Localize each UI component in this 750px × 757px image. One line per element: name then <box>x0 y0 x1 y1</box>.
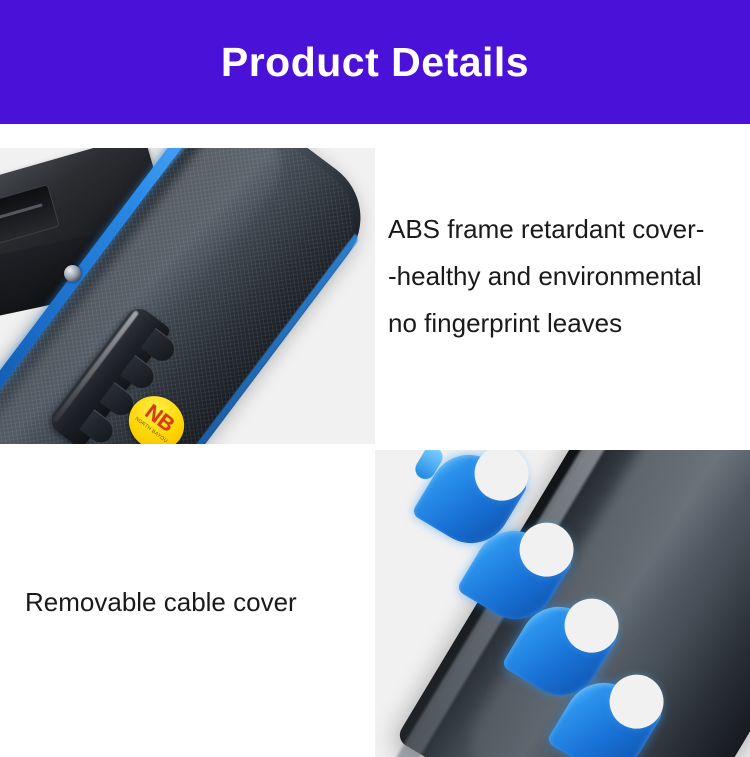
cable-cover-caption: Removable cable cover <box>25 585 297 619</box>
page-header-banner: Product Details <box>0 0 750 124</box>
pivot-screw <box>64 265 81 282</box>
feature-line-1: ABS frame retardant cover- <box>388 206 740 253</box>
product-details-page: Product Details <box>0 0 750 757</box>
product-photo-cable-teeth-closeup <box>375 450 750 757</box>
product-photo-arm-closeup: NB NORTH BAYOU <box>0 148 375 444</box>
feature-description-block: ABS frame retardant cover- -healthy and … <box>388 206 740 347</box>
hook-notch <box>465 450 539 511</box>
cable-teeth-illustration <box>375 450 750 757</box>
feature-line-2: -healthy and environmental <box>388 253 740 300</box>
bracket-slot <box>0 184 60 247</box>
feature-line-3: no fingerprint leaves <box>388 300 740 347</box>
arm-illustration: NB NORTH BAYOU <box>0 148 375 444</box>
page-title: Product Details <box>221 42 529 83</box>
